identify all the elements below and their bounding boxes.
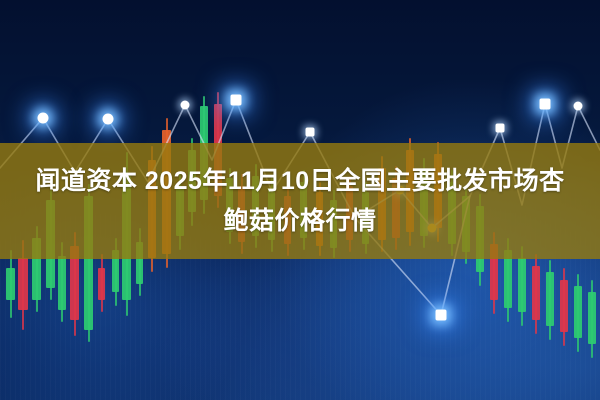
trendline-node-marker	[38, 113, 49, 124]
trendline-node-marker	[436, 310, 447, 321]
title-line-1: 闻道资本 2025年11月10日全国主要批发市场杏	[35, 161, 564, 201]
trendline-node-marker	[574, 102, 583, 111]
trendline-node-marker	[103, 114, 114, 125]
trendline-node-marker	[306, 128, 315, 137]
trendline-node-marker	[181, 101, 190, 110]
trendline-node-marker	[231, 95, 242, 106]
trendline-node-marker	[496, 124, 505, 133]
banner-title: 闻道资本 2025年11月10日全国主要批发市场杏 鲍菇价格行情	[0, 143, 600, 259]
trendline-node-marker	[540, 99, 551, 110]
title-line-2: 鲍菇价格行情	[223, 201, 376, 241]
banner-image: 闻道资本 2025年11月10日全国主要批发市场杏 鲍菇价格行情	[0, 0, 600, 400]
